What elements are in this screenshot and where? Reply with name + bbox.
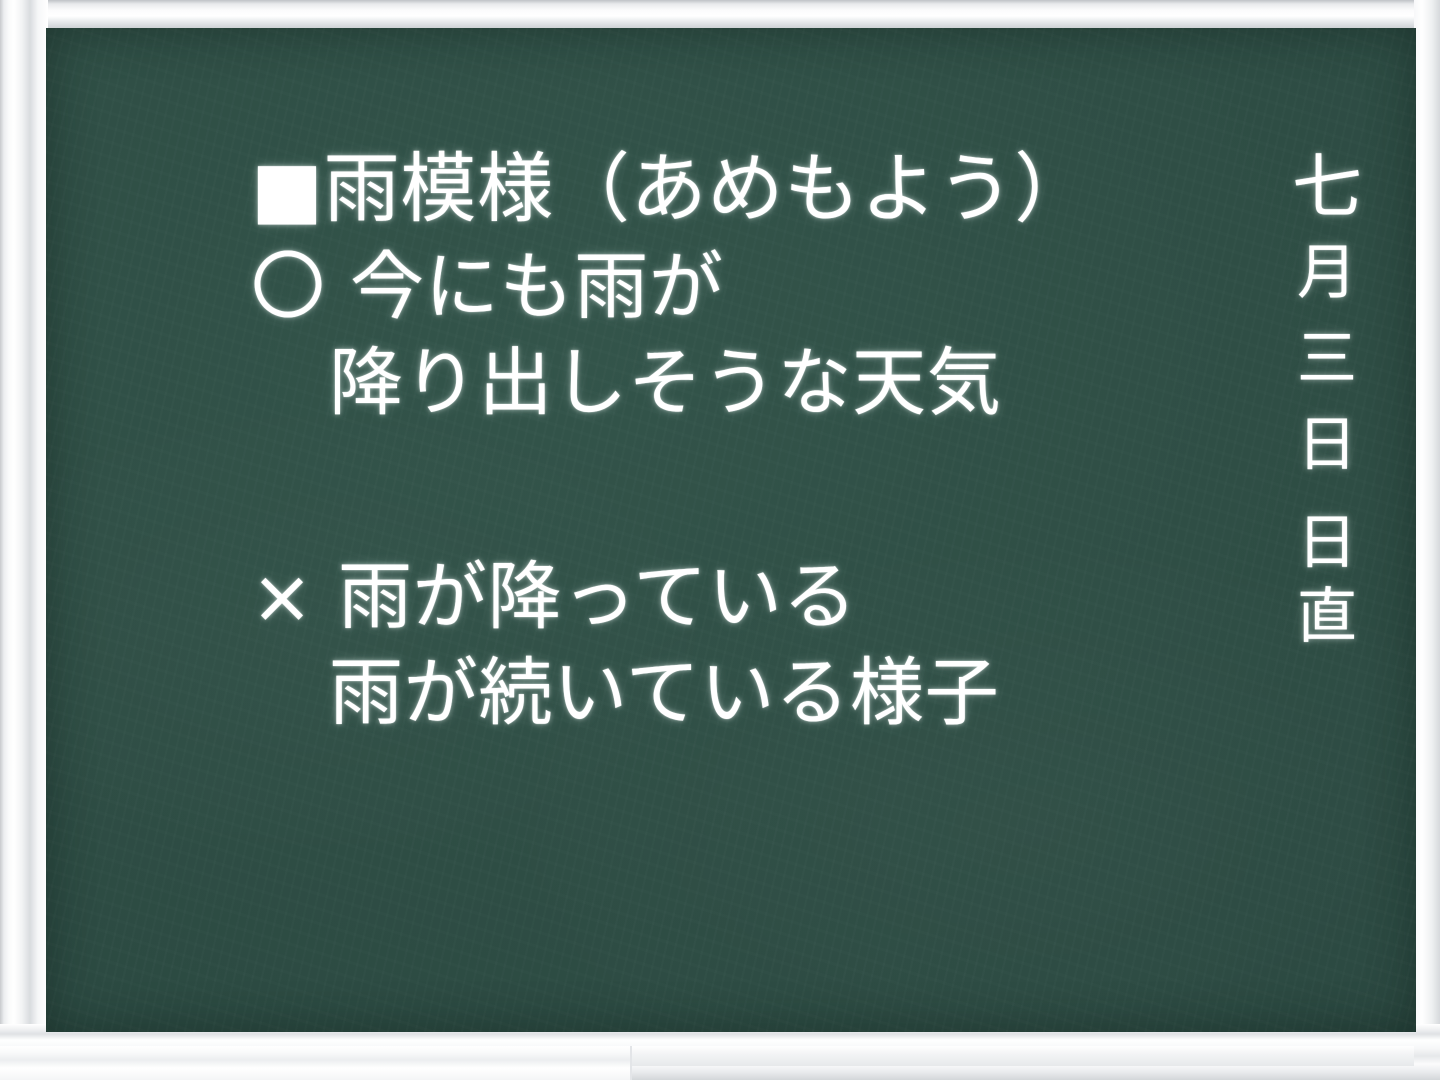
frame-right-rail	[1414, 0, 1440, 1080]
chalk-tray-left	[0, 1046, 632, 1080]
date-char-3: 三	[1284, 329, 1370, 389]
lesson-text-block: ■雨模様（あめもよう） 〇 今にも雨が 降り出しそうな天気 × 雨が降っている …	[251, 140, 1181, 742]
correct-usage-line-2: 降り出しそうな天気	[251, 335, 1181, 431]
chalkboard-writing-surface: ■雨模様（あめもよう） 〇 今にも雨が 降り出しそうな天気 × 雨が降っている …	[46, 28, 1416, 1032]
date-char-6: 直	[1284, 587, 1370, 647]
date-char-5: 日	[1284, 513, 1370, 573]
frame-top-rail	[0, 0, 1440, 30]
lesson-heading: ■雨模様（あめもよう）	[251, 140, 1181, 239]
incorrect-usage-line-1: × 雨が降っている	[251, 549, 1181, 645]
lesson-paragraph-gap	[251, 431, 1181, 549]
chalk-tray-right	[632, 1046, 1414, 1066]
incorrect-usage-line-2: 雨が続いている様子	[251, 645, 1181, 741]
correct-usage-line-1: 〇 今にも雨が	[251, 239, 1181, 335]
date-char-4: 日	[1284, 415, 1370, 475]
frame-left-rail	[0, 0, 48, 1080]
vertical-date-column: 七 月 三 日 日 直	[1284, 146, 1370, 647]
date-char-1: 七	[1284, 146, 1370, 229]
date-char-2: 月	[1284, 243, 1370, 303]
chalkboard-screenshot: ■雨模様（あめもよう） 〇 今にも雨が 降り出しそうな天気 × 雨が降っている …	[0, 0, 1440, 1080]
